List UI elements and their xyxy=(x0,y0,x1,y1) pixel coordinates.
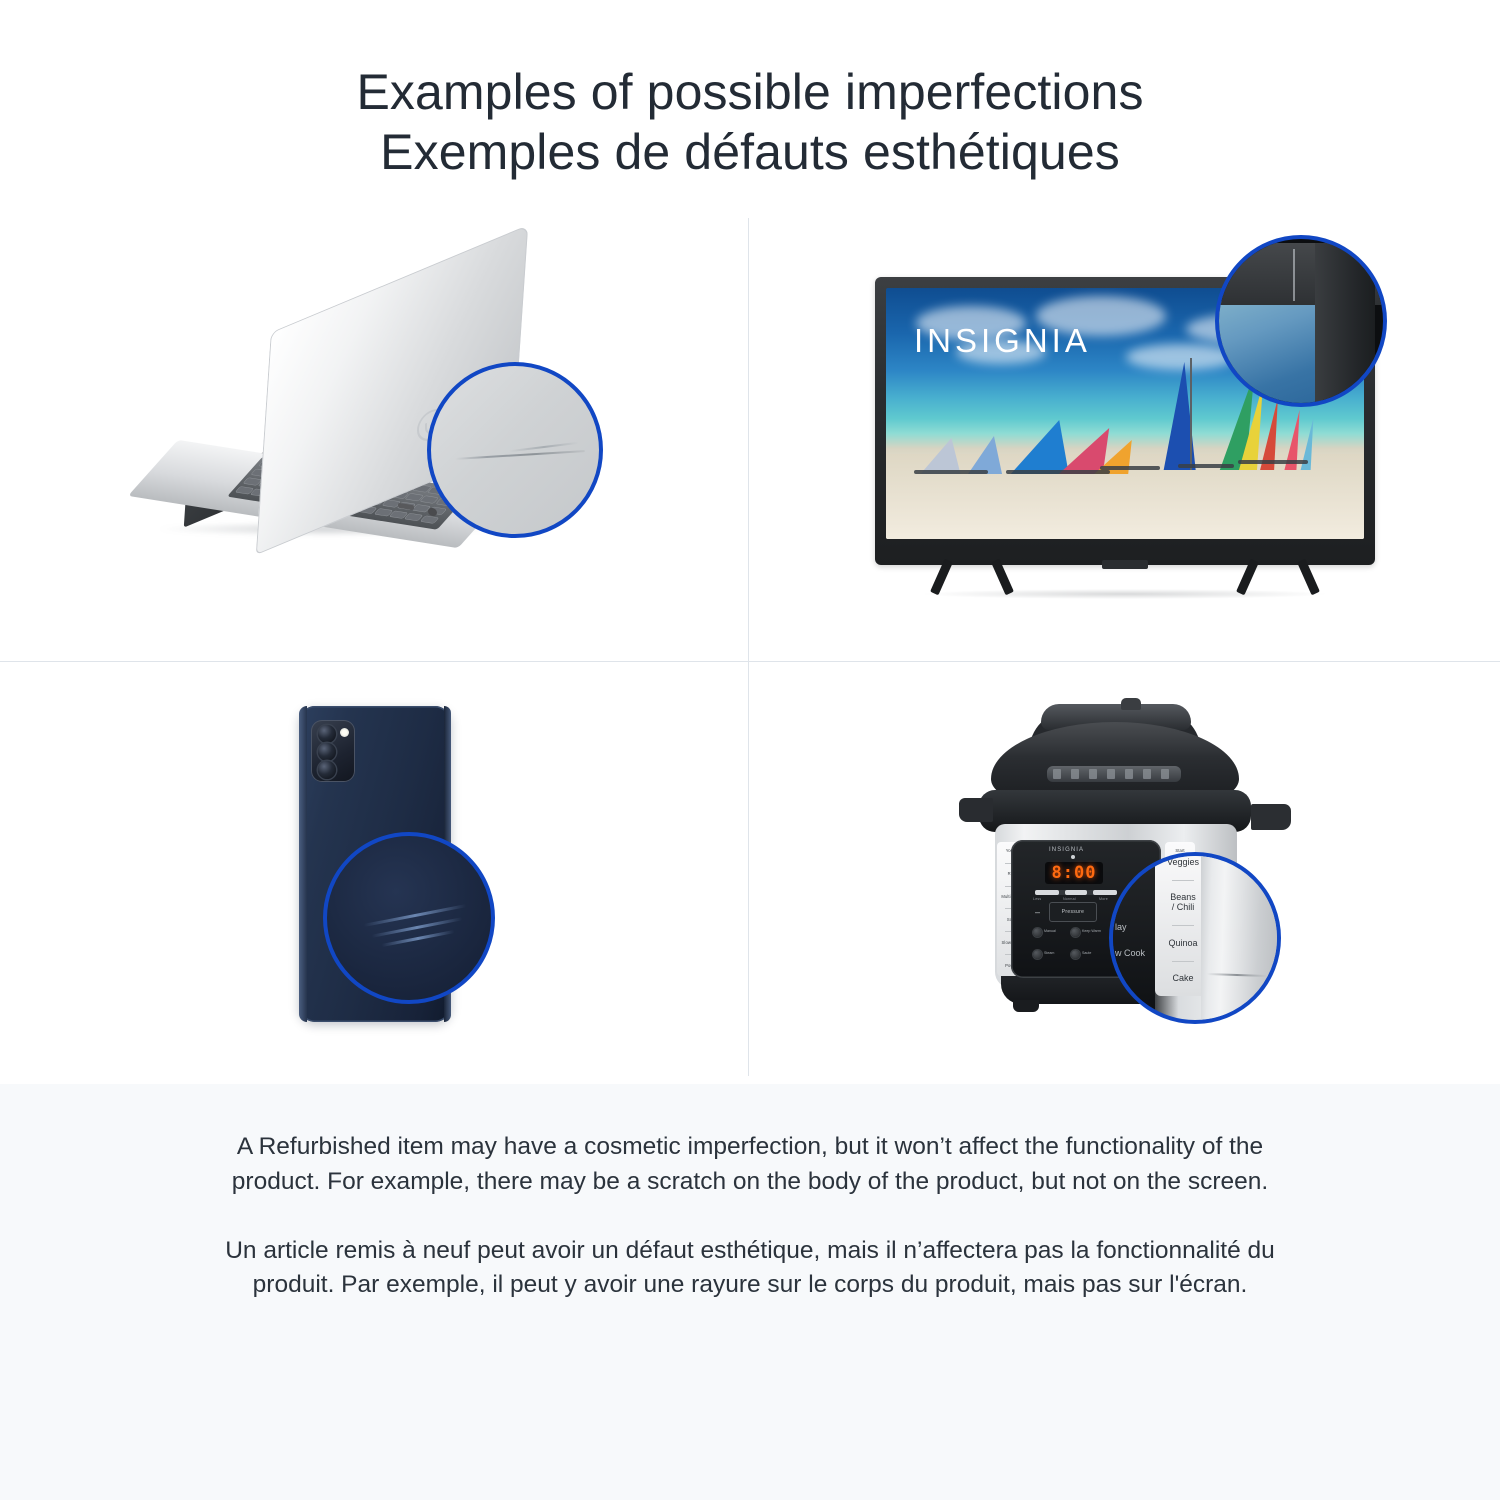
smartphone-illustration xyxy=(245,694,505,1034)
keyboard-key xyxy=(421,516,439,523)
lid-strip-segment xyxy=(1107,769,1115,779)
lid-strip-segment xyxy=(1053,769,1061,779)
cooker-bar-label-more: More xyxy=(1099,897,1108,901)
product-examples-grid: INSIGNIA xyxy=(0,204,1500,1084)
camera-lens-icon xyxy=(318,743,336,761)
sailboat-mast xyxy=(1190,358,1192,470)
smartphone-camera-module xyxy=(311,720,355,782)
lid-strip-segment xyxy=(1143,769,1151,779)
magnifier-circle-laptop xyxy=(427,362,603,538)
sailboat-hull xyxy=(914,470,988,474)
laptop-scratch-mark xyxy=(455,450,585,460)
television-bezel-scratch xyxy=(1293,249,1295,301)
television-left-stand xyxy=(935,559,1009,593)
lid-strip-segment xyxy=(1071,769,1079,779)
sailboat-hull xyxy=(1006,470,1110,474)
camera-flash-icon xyxy=(340,728,349,737)
magnifier-circle-smartphone xyxy=(323,832,495,1004)
cooker-round-button[interactable] xyxy=(1071,950,1080,959)
page-header: Examples of possible imperfections Exemp… xyxy=(0,0,1500,182)
magnifier-circle-television xyxy=(1215,235,1387,407)
cooker-mode-display: Pressure xyxy=(1049,902,1097,922)
page-title-english: Examples of possible imperfections xyxy=(0,62,1500,122)
button-divider xyxy=(1172,880,1194,881)
cooker-minus-button[interactable]: – xyxy=(1035,908,1040,917)
cooker-round-button[interactable] xyxy=(1033,928,1042,937)
television-bezel-panel xyxy=(1215,301,1323,407)
cooker-foot xyxy=(1013,1000,1039,1012)
cooker-left-handle xyxy=(959,798,993,822)
disclaimer-english: A Refurbished item may have a cosmetic i… xyxy=(190,1130,1310,1200)
cooker-indicator-light xyxy=(1071,855,1075,859)
keyboard-key xyxy=(405,513,423,520)
cooker-round-button-label: Manual xyxy=(1044,929,1056,933)
pressure-cooker-illustration: YogurtRiceMulti GrainSoupSlow CookPoultr… xyxy=(955,694,1295,1034)
television-center-foot xyxy=(1102,560,1148,569)
cooker-round-button-label: Keep Warm xyxy=(1082,929,1101,933)
cooker-level-bar xyxy=(1035,890,1117,895)
cooker-brand-label: INSIGNIA xyxy=(1049,847,1084,853)
sailboat-sail xyxy=(912,438,961,474)
smartphone-scratch-mark xyxy=(364,904,467,927)
sailboat-sail xyxy=(960,436,1002,474)
button-divider xyxy=(1172,961,1194,962)
lid-strip-segment xyxy=(1161,769,1169,779)
cooker-round-button-label: Steam xyxy=(1044,951,1054,955)
cooker-magnified-label: Quinoa xyxy=(1168,939,1197,949)
disclaimer-section: A Refurbished item may have a cosmetic i… xyxy=(0,1084,1500,1500)
page-title-french: Exemples de défauts esthétiques xyxy=(0,122,1500,182)
cooker-bar-label-less: Less xyxy=(1033,897,1041,901)
cooker-round-button[interactable] xyxy=(1071,928,1080,937)
smartphone-left-edge xyxy=(299,706,307,1022)
cooker-right-handle xyxy=(1251,804,1291,830)
button-divider xyxy=(1172,925,1194,926)
imperfections-infographic: Examples of possible imperfections Exemp… xyxy=(0,0,1500,1500)
cooker-magnified-label: Beans / Chili xyxy=(1170,893,1196,913)
camera-lens-icon xyxy=(318,725,336,743)
grid-cell-pressure-cooker: YogurtRiceMulti GrainSoupSlow CookPoultr… xyxy=(750,644,1500,1084)
sailboat-hull xyxy=(1238,460,1308,464)
cooker-magnified-steel-surface xyxy=(1201,856,1277,1020)
laptop-illustration xyxy=(145,274,605,574)
grid-cell-smartphone xyxy=(0,644,750,1084)
sailboat-hull xyxy=(1100,466,1160,470)
insignia-brand-label: INSIGNIA xyxy=(914,322,1091,360)
cooker-round-button[interactable] xyxy=(1033,950,1042,959)
cooker-lid-strip xyxy=(1047,766,1181,782)
keyboard-key xyxy=(421,496,439,503)
cooker-steam-valve xyxy=(1121,698,1141,710)
disclaimer-french: Un article remis à neuf peut avoir un dé… xyxy=(190,1234,1310,1304)
magnifier-circle-pressure-cooker: lay w Cook VeggiesBeans / ChiliQuinoaCak… xyxy=(1109,852,1281,1024)
lid-strip-segment xyxy=(1125,769,1133,779)
sailboat-hull xyxy=(1178,464,1234,468)
television-bezel-right xyxy=(1315,243,1375,407)
camera-lens-icon xyxy=(318,761,336,779)
grid-cell-laptop xyxy=(0,204,750,644)
cooker-led-display: 8:00 xyxy=(1045,862,1103,884)
sailboat-sail xyxy=(1001,420,1069,474)
cooker-magnified-label: Cake xyxy=(1172,974,1193,984)
television-right-stand xyxy=(1241,559,1315,593)
grid-cell-television: INSIGNIA xyxy=(750,204,1500,644)
television-illustration: INSIGNIA xyxy=(865,249,1385,599)
cooker-magnified-label: Veggies xyxy=(1167,858,1199,868)
lid-strip-segment xyxy=(1089,769,1097,779)
cooker-bar-label-normal: Normal xyxy=(1063,897,1076,901)
cooker-round-button-label: Saute xyxy=(1082,951,1091,955)
cooker-magnified-left-labels: lay w Cook xyxy=(1115,914,1145,966)
